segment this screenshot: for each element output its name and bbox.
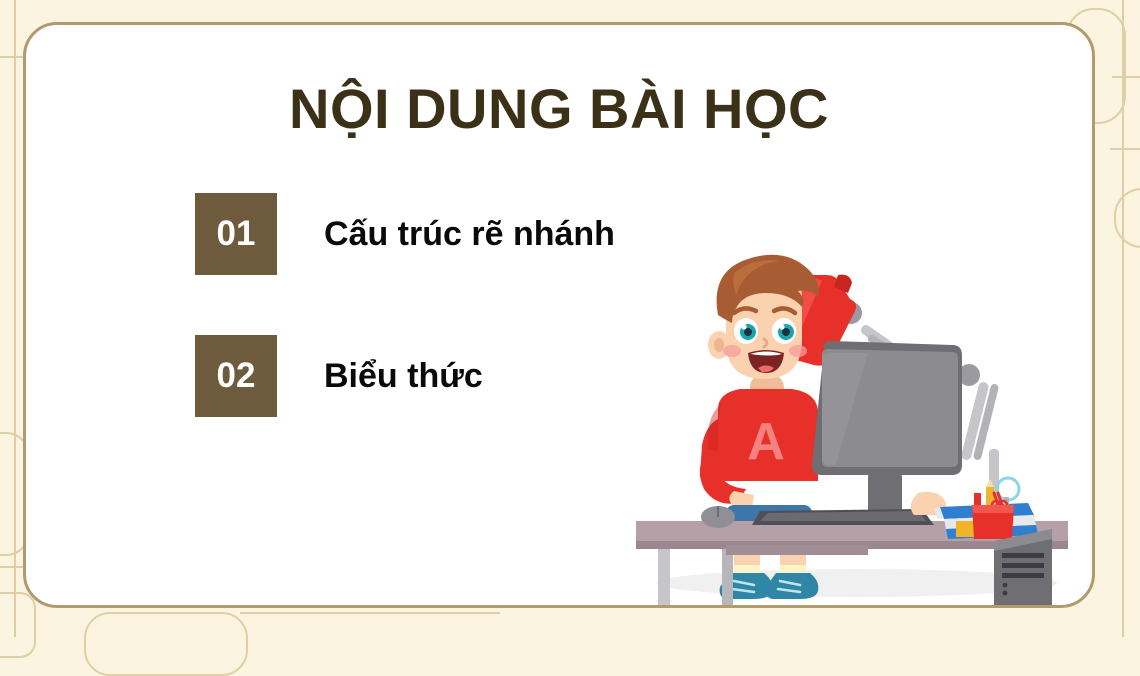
deco-shape-r-vline: [1122, 0, 1124, 637]
agenda-item-label: Cấu trúc rẽ nhánh: [324, 215, 615, 254]
agenda-item-label: Biểu thức: [324, 357, 483, 396]
deco-shape-l-pill2: [0, 592, 36, 658]
agenda-number-badge: 02: [195, 335, 277, 417]
deco-shape-tr-line: [1112, 76, 1140, 78]
deco-shape-r-line1: [1110, 148, 1140, 150]
deco-shape-b-pill: [84, 612, 248, 676]
keyboard-icon: [752, 509, 934, 525]
agenda-item-1[interactable]: 01 Cấu trúc rẽ nhánh: [195, 193, 615, 275]
agenda-number-badge: 01: [195, 193, 277, 275]
agenda-item-2[interactable]: 02 Biểu thức: [195, 335, 483, 417]
content-card: NỘI DUNG BÀI HỌC 01 Cấu trúc rẽ nhánh 02…: [23, 22, 1095, 608]
deco-shape-l-vline: [14, 0, 16, 637]
shoe-right: [766, 573, 819, 599]
deco-shape-b-line: [240, 612, 500, 614]
mouse-icon: [701, 506, 735, 528]
shirt-letter: A: [747, 413, 785, 471]
slide-root: NỘI DUNG BÀI HỌC 01 Cấu trúc rẽ nhánh 02…: [0, 0, 1140, 637]
illustration-boy-at-computer: A: [622, 253, 1082, 608]
computer-tower-icon: [994, 529, 1052, 605]
page-title: NỘI DUNG BÀI HỌC: [26, 76, 1092, 141]
deco-shape-tl-line: [0, 56, 24, 58]
deco-shape-r-circle: [1114, 188, 1140, 248]
